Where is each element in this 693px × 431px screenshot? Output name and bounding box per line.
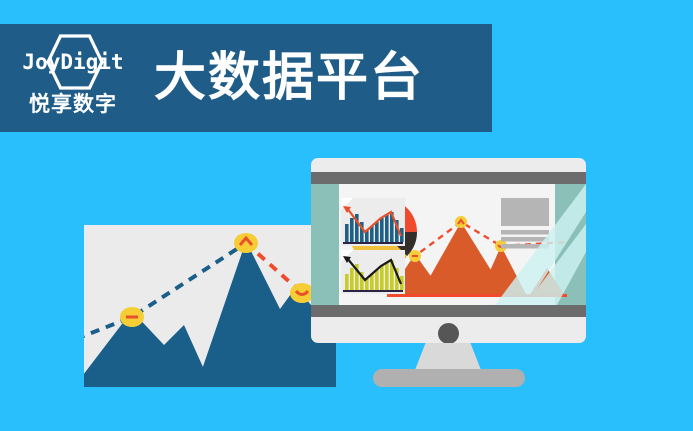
monitor-top-bar (311, 172, 586, 184)
monitor-screen (311, 184, 586, 305)
dashboard-content (311, 184, 586, 305)
page-title: 大数据平台 (154, 52, 424, 104)
placeholder-line (501, 230, 549, 235)
logo-wordmark: JoyDigit (14, 50, 132, 74)
left-chart-panel (84, 225, 336, 387)
card-axis (343, 242, 403, 244)
screen-side-panel-left (311, 184, 339, 305)
gray-text-placeholder (501, 198, 549, 249)
poster-canvas: JoyDigit 悦享数字 大数据平台 (0, 0, 693, 431)
bar-chart-blue-card (341, 198, 405, 246)
placeholder-line (501, 237, 549, 242)
left-mountain-chart (84, 225, 336, 387)
monitor (311, 158, 586, 343)
monitor-frame (311, 158, 586, 343)
monitor-stand-neck (415, 343, 481, 370)
monitor-bottom-bar (311, 305, 586, 317)
placeholder-block (501, 198, 549, 226)
logo-subtitle: 悦享数字 (14, 88, 132, 118)
brand-logo: JoyDigit 悦享数字 (14, 32, 132, 124)
bar-chart-yellow-card (341, 250, 405, 294)
data-point-marker (455, 216, 467, 228)
card-axis (343, 290, 403, 292)
monitor-stand-base (373, 369, 525, 387)
monitor-power-indicator (438, 323, 459, 343)
header-banner: JoyDigit 悦享数字 大数据平台 (0, 24, 492, 132)
